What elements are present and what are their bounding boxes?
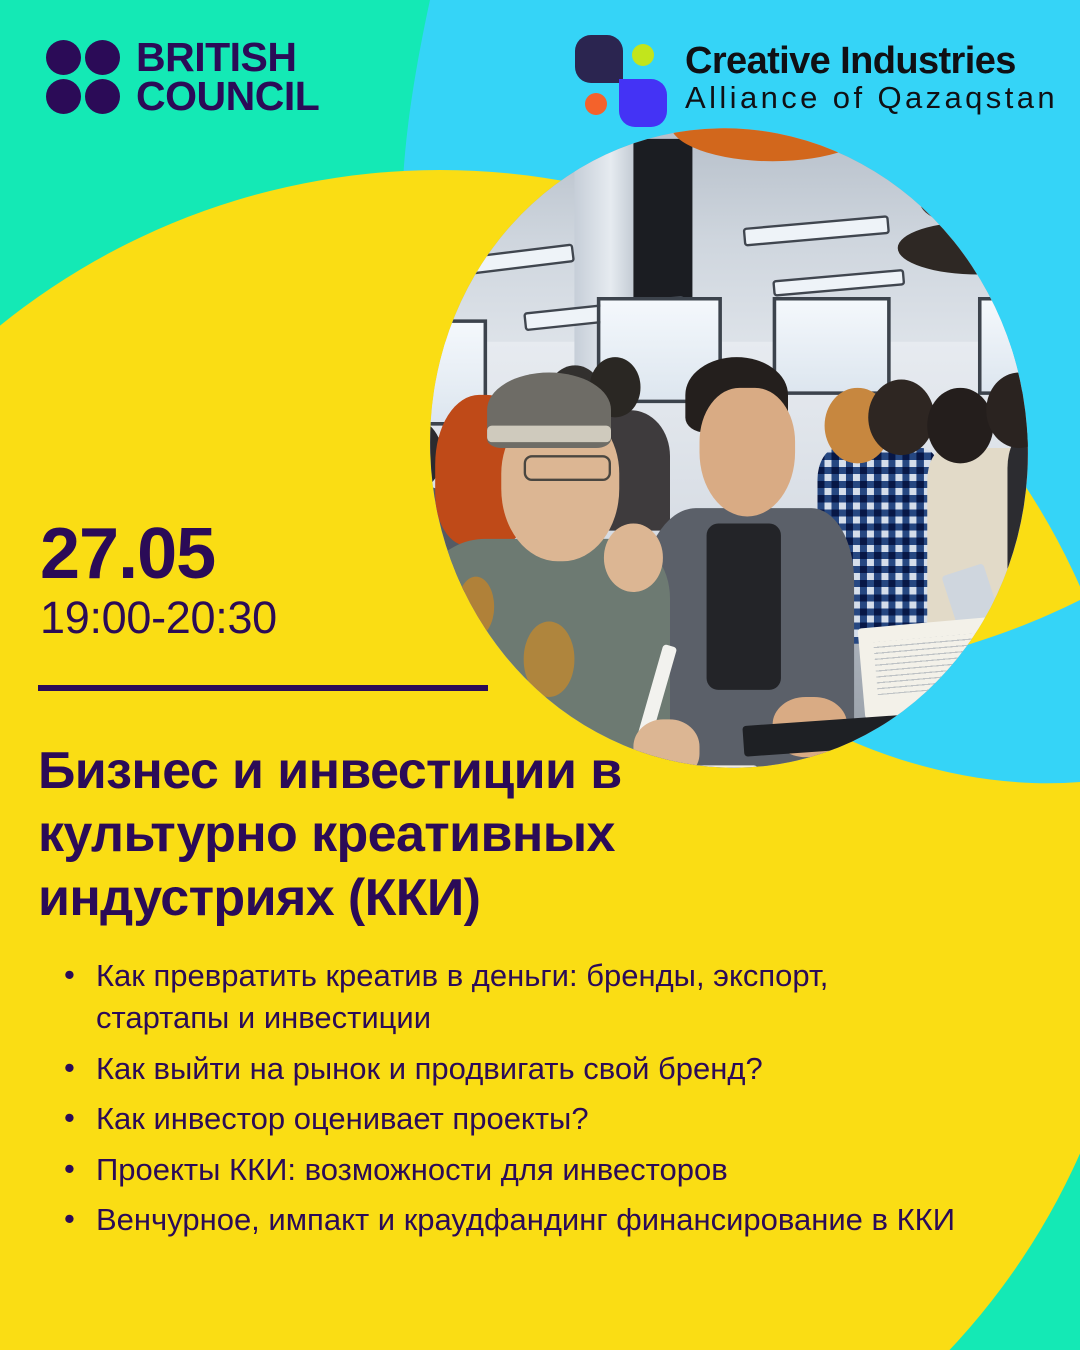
photo-screen bbox=[634, 138, 693, 304]
topic-item: Как превратить креатив в деньги: бренды,… bbox=[58, 955, 958, 1040]
creative-industries-mark-icon bbox=[569, 30, 667, 126]
dot-orange-icon bbox=[585, 93, 607, 115]
creative-industries-logo: Creative Industries Alliance of Qazaqsta… bbox=[569, 30, 1058, 126]
photo-eyeglasses bbox=[523, 456, 611, 482]
creative-industries-wordmark: Creative Industries Alliance of Qazaqsta… bbox=[685, 41, 1058, 114]
poster-canvas: BRITISH COUNCIL Creative Industries Alli… bbox=[0, 0, 1080, 1350]
creative-industries-line1: Creative Industries bbox=[685, 41, 1058, 81]
dot-lime-icon bbox=[632, 44, 654, 66]
british-council-logo: BRITISH COUNCIL bbox=[46, 38, 319, 117]
photo-skullcap-band bbox=[487, 425, 612, 442]
divider-rule bbox=[38, 685, 488, 691]
event-topics-list: Как превратить креатив в деньги: бренды,… bbox=[58, 955, 958, 1250]
photo-person-head bbox=[927, 388, 993, 464]
dot-icon bbox=[85, 79, 120, 114]
creative-industries-line2: Alliance of Qazaqstan bbox=[685, 82, 1058, 115]
british-council-line2: COUNCIL bbox=[136, 77, 319, 116]
photo-man-suit-shirt bbox=[707, 524, 780, 690]
dot-icon bbox=[85, 40, 120, 75]
british-council-wordmark: BRITISH COUNCIL bbox=[136, 38, 319, 117]
photo-man-suit-face bbox=[700, 388, 795, 516]
photo-man-chapan-hand bbox=[604, 524, 663, 592]
petal-blue-icon bbox=[619, 79, 667, 127]
topic-item: Как выйти на рынок и продвигать свой бре… bbox=[58, 1048, 958, 1090]
dot-icon bbox=[46, 40, 81, 75]
event-title: Бизнес и инвестиции в культурно креативн… bbox=[38, 740, 798, 930]
topic-item: Как инвестор оценивает проекты? bbox=[58, 1098, 958, 1140]
photo-window bbox=[773, 297, 890, 395]
british-council-dots-icon bbox=[46, 40, 120, 114]
petal-navy-icon bbox=[575, 35, 623, 83]
topic-item: Венчурное, импакт и краудфандинг финанси… bbox=[58, 1199, 958, 1241]
dot-icon bbox=[46, 79, 81, 114]
event-date: 27.05 bbox=[40, 518, 277, 590]
british-council-line1: BRITISH bbox=[136, 38, 319, 77]
event-date-block: 27.05 19:00-20:30 bbox=[40, 518, 277, 646]
topic-item: Проекты ККИ: возможности для инвесторов bbox=[58, 1149, 958, 1191]
event-time: 19:00-20:30 bbox=[40, 590, 277, 646]
